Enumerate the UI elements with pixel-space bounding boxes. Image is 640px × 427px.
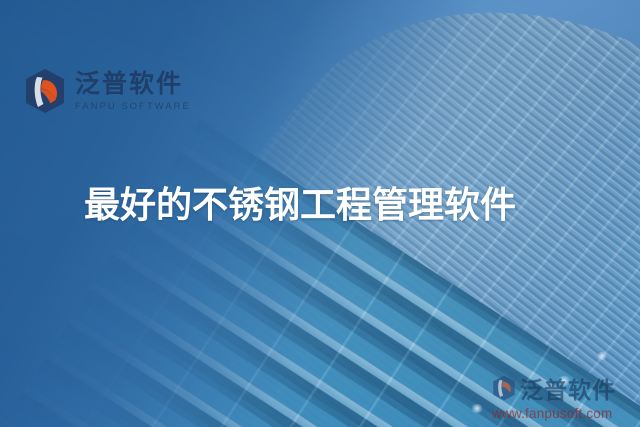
banner-image: 泛普软件 FANPU SOFTWARE 最好的不锈钢工程管理软件 泛普软件 ww… — [0, 0, 640, 427]
logo-wordmark: 泛普软件 FANPU SOFTWARE — [75, 71, 191, 112]
watermark-logo-row: 泛普软件 — [492, 371, 632, 405]
fanpu-hexagon-mark-icon — [492, 375, 516, 401]
banner-headline: 最好的不锈钢工程管理软件 — [84, 186, 516, 226]
logo-name-cn: 泛普软件 — [75, 71, 191, 97]
logo-name-en: FANPU SOFTWARE — [75, 102, 191, 112]
watermark-name-cn: 泛普软件 — [520, 371, 616, 405]
fanpu-hexagon-mark-icon — [24, 68, 66, 114]
watermark-url: www.fanpusoft.com — [492, 406, 632, 421]
company-logo: 泛普软件 FANPU SOFTWARE — [24, 68, 191, 114]
watermark: 泛普软件 www.fanpusoft.com — [492, 371, 632, 421]
